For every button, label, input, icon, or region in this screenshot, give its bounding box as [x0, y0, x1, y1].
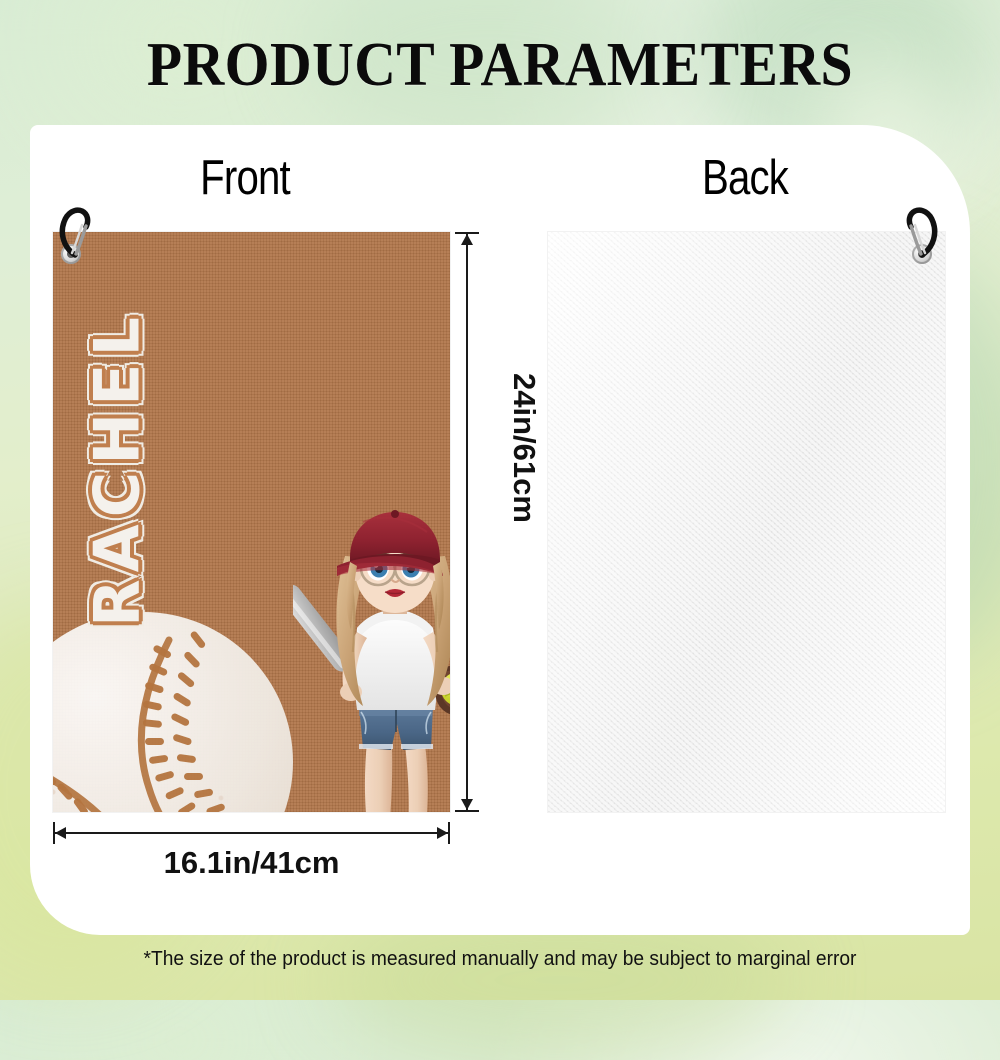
width-dimension-label: 16.1in/41cm [53, 845, 450, 881]
height-arrow-down [461, 799, 473, 810]
front-view-label: Front [122, 150, 368, 206]
width-arrow-left [55, 827, 66, 839]
back-carabiner-clip-icon [901, 203, 947, 265]
front-carabiner-clip-icon [50, 203, 96, 265]
denim-shorts [359, 706, 433, 750]
softball-girl-character [293, 510, 450, 812]
height-arrow-up [461, 234, 473, 245]
width-tick-right [448, 822, 450, 844]
personalized-name: RACHEL [81, 259, 154, 679]
measurement-disclaimer: *The size of the product is measured man… [20, 948, 980, 971]
width-arrow-right [437, 827, 448, 839]
front-towel: RACHEL 25 [53, 232, 450, 812]
width-dimension-line [53, 832, 450, 834]
height-dimension-label: 24in/61cm [506, 358, 542, 538]
page-title: PRODUCT PARAMETERS [35, 30, 965, 101]
back-view-label: Back [622, 150, 868, 206]
back-towel [548, 232, 945, 812]
height-dimension-line [466, 232, 468, 812]
height-tick-bottom [455, 810, 479, 812]
